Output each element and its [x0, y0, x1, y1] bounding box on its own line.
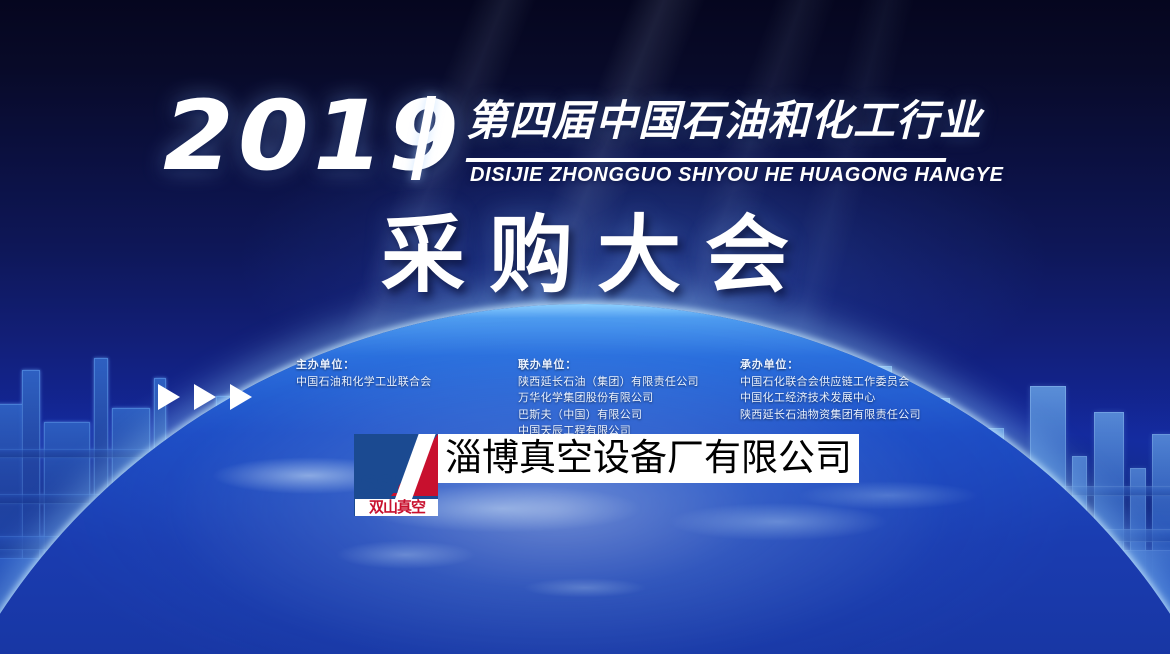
organiser-role-label: 承办单位： — [740, 357, 921, 374]
title-underline — [466, 158, 947, 162]
logo-latin-mark: SSI — [359, 472, 400, 497]
logo-chinese-mark: 双山真空 — [355, 499, 438, 516]
organiser-entity: 中国化工经济技术发展中心 — [740, 390, 921, 407]
event-banner: 2019 第四届中国石油和化工行业 DISIJIE ZHONGGUO SHIYO… — [0, 0, 1170, 654]
organiser-entity: 中国石油和化学工业联合会 — [296, 374, 432, 391]
organiser-entity: 巴斯夫（中国）有限公司 — [518, 407, 699, 424]
organiser-entity: 中国石化联合会供应链工作委员会 — [740, 374, 921, 391]
organiser-column-executive: 承办单位： 中国石化联合会供应链工作委员会 中国化工经济技术发展中心 陕西延长石… — [740, 357, 921, 423]
exhibitor-overlay: SSI 双山真空 淄博真空设备厂有限公司 — [354, 434, 859, 516]
organiser-list: 主办单位： 中国石油和化学工业联合会 联办单位： 陕西延长石油（集团）有限责任公… — [0, 357, 1170, 437]
company-logo: SSI 双山真空 — [354, 434, 438, 516]
banner-headline: 2019 第四届中国石油和化工行业 DISIJIE ZHONGGUO SHIYO… — [0, 92, 1170, 192]
organiser-column-coorganiser: 联办单位： 陕西延长石油（集团）有限责任公司 万华化学集团股份有限公司 巴斯夫（… — [518, 357, 699, 440]
organiser-role-label: 主办单位： — [296, 357, 432, 374]
organiser-column-host: 主办单位： 中国石油和化学工业联合会 — [296, 357, 432, 390]
event-title-chinese: 第四届中国石油和化工行业 — [466, 96, 982, 146]
event-title-pinyin: DISIJIE ZHONGGUO SHIYOU HE HUAGONG HANGY… — [470, 164, 1004, 187]
organiser-entity: 陕西延长石油（集团）有限责任公司 — [518, 374, 699, 391]
exhibitor-company-name: 淄博真空设备厂有限公司 — [438, 434, 859, 483]
event-subject: 采购大会 — [0, 205, 1170, 305]
organiser-entity: 万华化学集团股份有限公司 — [518, 390, 699, 407]
organiser-entity: 陕西延长石油物资集团有限责任公司 — [740, 407, 921, 424]
organiser-role-label: 联办单位： — [518, 357, 699, 374]
